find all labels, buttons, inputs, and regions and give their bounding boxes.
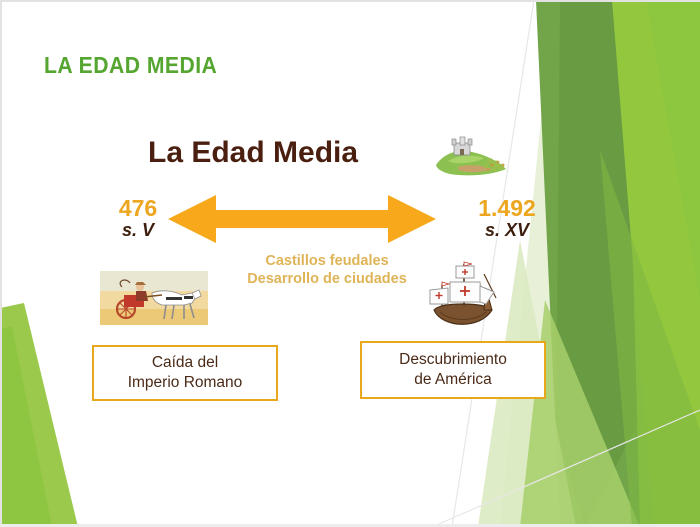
slide-frame-top-edge: [0, 0, 700, 2]
caption-box-fall-of-rome: Caída del Imperio Romano: [92, 345, 278, 401]
double-headed-timeline-arrow: [168, 193, 436, 245]
slide-frame-left-edge: [0, 0, 2, 527]
caption-left-line-1: Caída del: [128, 353, 243, 373]
slide-title: LA EDAD MEDIA: [44, 52, 217, 79]
caption-right-line-2: de América: [399, 370, 507, 390]
timeline-end-label: 1.492 s. XV: [455, 196, 559, 242]
end-century: s. XV: [455, 220, 559, 242]
page-heading: La Edad Media: [148, 136, 358, 170]
middle-caption-line-2: Desarrollo: [247, 271, 319, 287]
roman-chariot-horses-image: [100, 271, 208, 325]
medieval-castle-village-image: [428, 131, 510, 181]
caption-box-discovery-of-america: Descubrimiento de América: [360, 341, 546, 399]
caption-left-line-2: Imperio Romano: [128, 373, 243, 393]
middle-caption: Castillos feudales Desarrollo de ciudade…: [232, 253, 422, 288]
caption-right-line-1: Descubrimiento: [399, 350, 507, 370]
middle-caption-line-3: de ciudades: [323, 271, 407, 287]
presentation-slide: LA EDAD MEDIA La Edad Media 476 s. V 1.4…: [0, 0, 700, 527]
end-year: 1.492: [455, 196, 559, 220]
middle-caption-line-1: Castillos feudales: [265, 253, 388, 269]
columbus-caravel-ship-image: [418, 258, 504, 336]
